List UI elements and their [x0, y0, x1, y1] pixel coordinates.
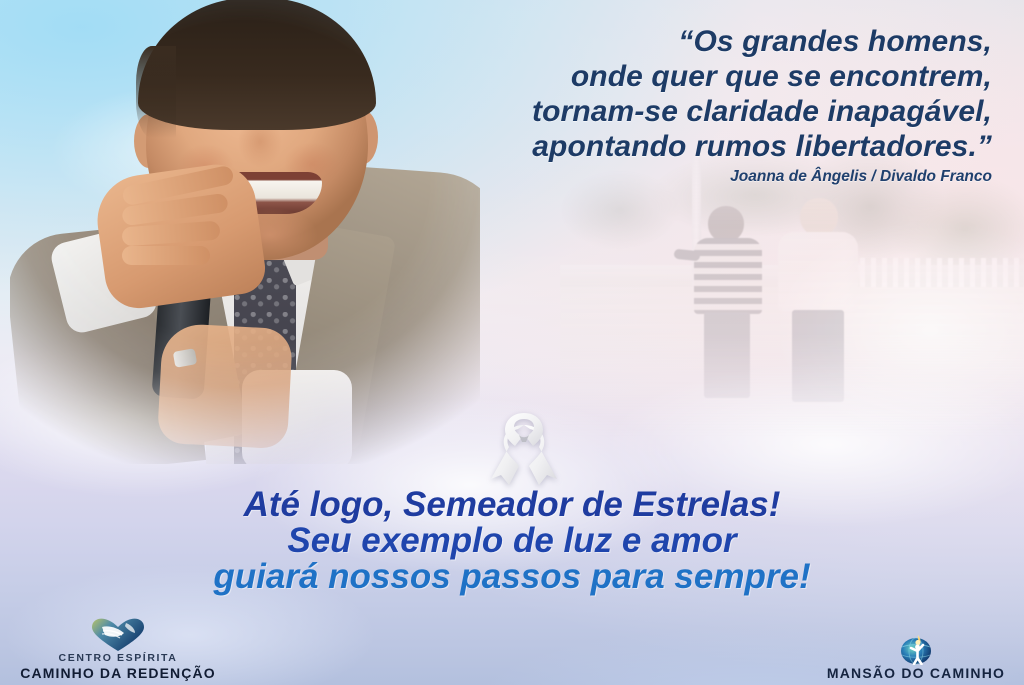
quote-line: “Os grandes homens,	[372, 24, 992, 59]
headline-line: Seu exemplo de luz e amor	[0, 523, 1024, 559]
memorial-poster: “Os grandes homens, onde quer que se enc…	[0, 0, 1024, 685]
person-torso	[778, 232, 858, 312]
logo-mansao-do-caminho: MANSÃO DO CAMINHO	[816, 631, 1016, 681]
logo-right-line1: MANSÃO DO CAMINHO	[816, 665, 1016, 681]
hair-sideburn	[136, 46, 176, 138]
quote-attribution: Joanna de Ângelis / Divaldo Franco	[372, 168, 992, 186]
background-person-striped-shirt	[692, 206, 764, 396]
logo-left-line1: CENTRO ESPÍRITA	[8, 652, 228, 665]
quote-text: “Os grandes homens, onde quer que se enc…	[372, 24, 992, 164]
hand-holding-microphone	[157, 323, 293, 450]
headline-line: guiará nossos passos para sempre!	[0, 559, 1024, 595]
person-torso	[694, 238, 762, 314]
person-legs	[792, 310, 844, 402]
heart-with-hands-icon	[8, 618, 228, 652]
logo-centro-espirita: CENTRO ESPÍRITA CAMINHO DA REDENÇÃO	[8, 618, 228, 681]
logo-left-line2: CAMINHO DA REDENÇÃO	[8, 665, 228, 681]
background-scene-photo	[560, 150, 1024, 450]
person-arm	[674, 249, 701, 262]
quote-line: apontando rumos libertadores.”	[372, 129, 992, 164]
white-ribbon-icon	[489, 409, 559, 489]
quote-line: onde quer que se encontrem,	[372, 59, 992, 94]
background-person-white-shirt	[778, 198, 858, 398]
finger	[122, 246, 210, 265]
person-legs	[704, 312, 750, 398]
quote-line: tornam-se claridade inapagável,	[372, 94, 992, 129]
globe-with-figure-icon	[816, 631, 1016, 665]
person-head	[708, 206, 744, 242]
person-head	[800, 198, 838, 236]
headline-line: Até logo, Semeador de Estrelas!	[0, 487, 1024, 523]
headline-text: Até logo, Semeador de Estrelas! Seu exem…	[0, 487, 1024, 595]
